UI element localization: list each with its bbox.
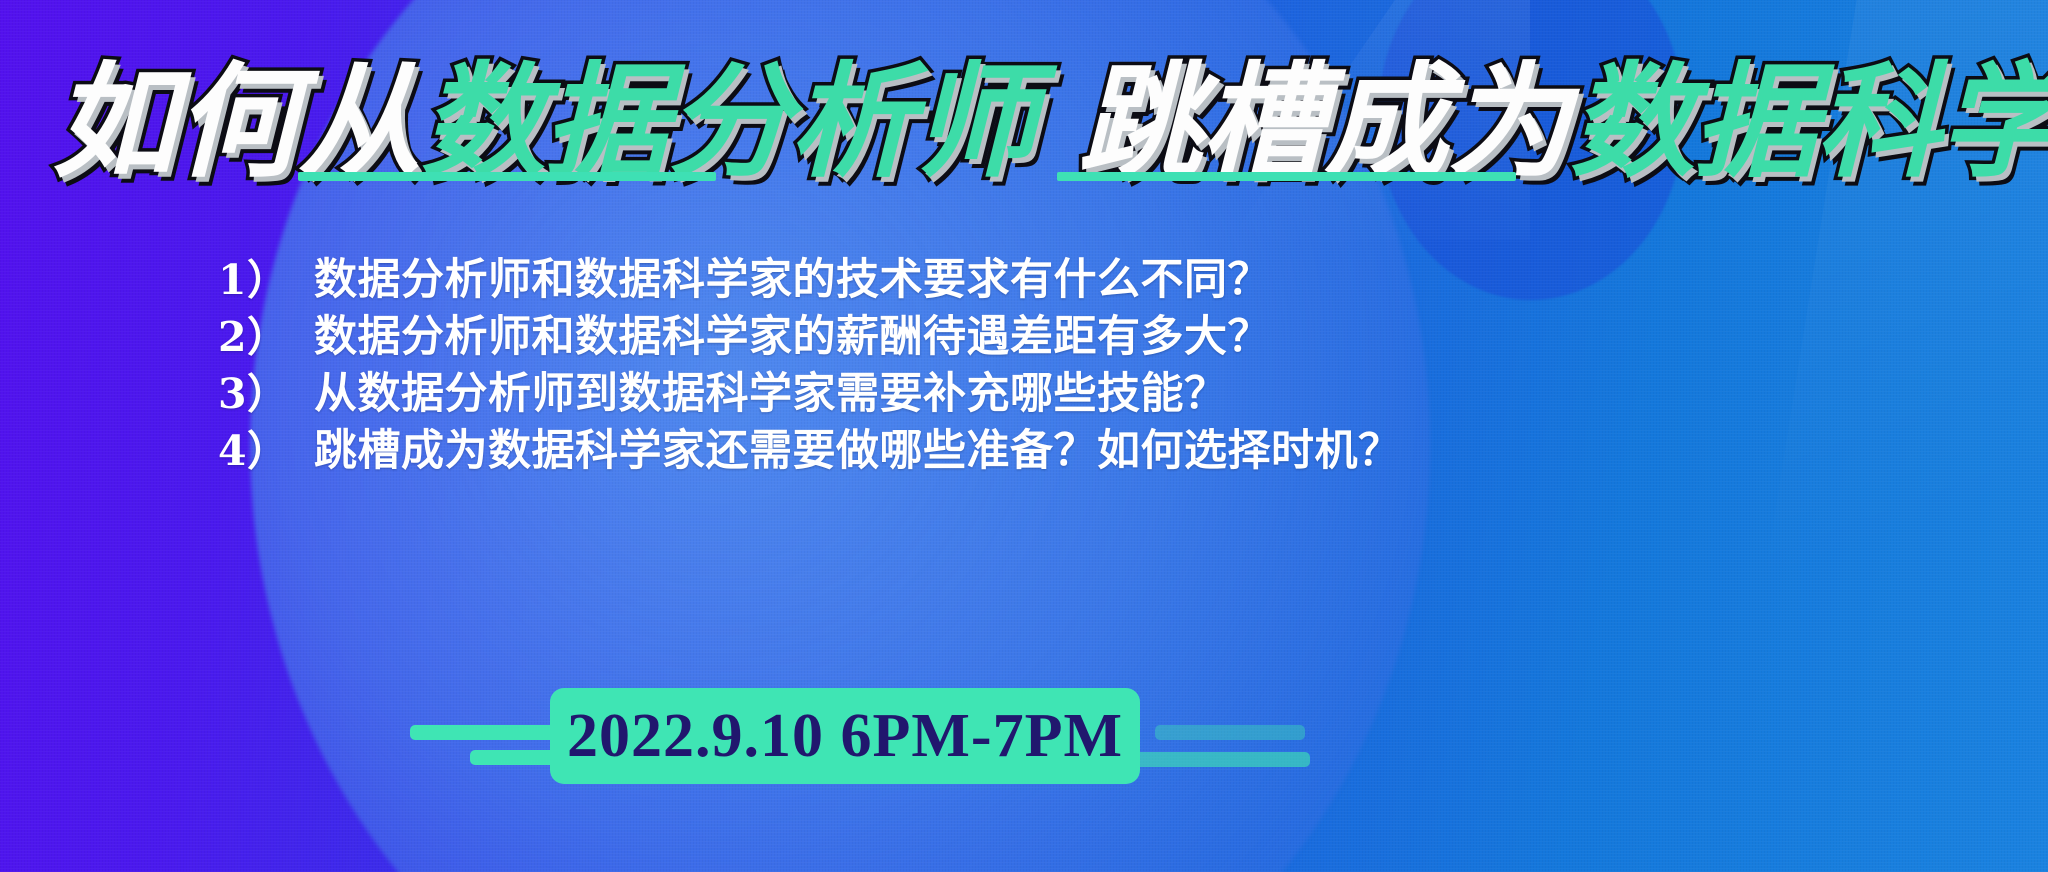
title-underline-scientist — [1057, 172, 1516, 181]
list-item-number: 3） — [218, 360, 314, 420]
title-segment-highlight-scientist: 数据科学家? — [1570, 50, 2048, 195]
accent-bar-right-bottom — [1115, 752, 1310, 767]
list-item: 1） 数据分析师和数据科学家的技术要求有什么不同？ — [218, 245, 1918, 299]
list-item: 2） 数据分析师和数据科学家的薪酬待遇差距有多大？ — [218, 302, 1918, 356]
list-item: 4） 跳槽成为数据科学家还需要做哪些准备？如何选择时机？ — [218, 416, 1918, 470]
list-item: 3） 从数据分析师到数据科学家需要补充哪些技能？ — [218, 359, 1918, 413]
list-item-label: 跳槽成为数据科学家还需要做哪些准备？如何选择时机？ — [314, 416, 1402, 478]
question-list: 1） 数据分析师和数据科学家的技术要求有什么不同？ 2） 数据分析师和数据科学家… — [218, 245, 1918, 473]
list-item-number: 2） — [218, 303, 314, 363]
list-item-label: 数据分析师和数据科学家的薪酬待遇差距有多大？ — [314, 302, 1271, 364]
list-item-label: 从数据分析师到数据科学家需要补充哪些技能？ — [314, 359, 1228, 421]
title-underline-analyst — [298, 172, 716, 181]
promo-banner: 如何从数据分析师 跳槽成为数据科学家? 1） 数据分析师和数据科学家的技术要求有… — [0, 0, 2048, 872]
list-item-number: 4） — [218, 417, 314, 477]
date-chip: 2022.9.10 6PM-7PM — [550, 688, 1140, 784]
date-text: 2022.9.10 6PM-7PM — [567, 701, 1123, 772]
list-item-label: 数据分析师和数据科学家的技术要求有什么不同？ — [314, 245, 1271, 307]
accent-bar-right-top — [1155, 725, 1305, 740]
list-item-number: 1） — [218, 246, 314, 306]
